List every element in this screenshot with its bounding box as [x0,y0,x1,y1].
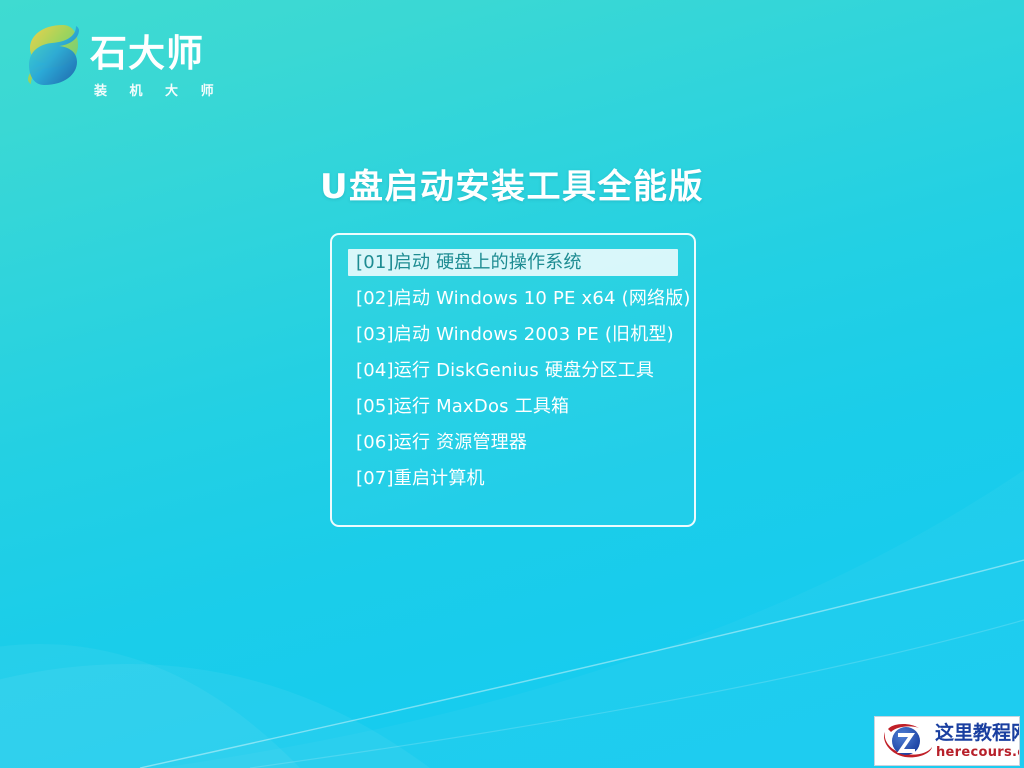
menu-item-02[interactable]: [02]启动 Windows 10 PE x64 (网络版) [348,285,678,312]
menu-item-06[interactable]: [06]运行 资源管理器 [348,429,678,456]
menu-item-05[interactable]: [05]运行 MaxDos 工具箱 [348,393,678,420]
stone-master-s-logo-icon [22,21,84,89]
watermark-site-name: 这里教程网 [935,722,1020,744]
menu-item-01[interactable]: [01]启动 硬盘上的操作系统 [348,249,678,276]
boot-menu-panel: [01]启动 硬盘上的操作系统 [02]启动 Windows 10 PE x64… [330,233,696,527]
page-title: U盘启动安装工具全能版 [0,159,1024,208]
watermark-site-url: herecours.com [936,745,1020,760]
menu-item-03[interactable]: [03]启动 Windows 2003 PE (旧机型) [348,321,678,348]
boot-menu-screen: 石大师 装 机 大 师 U盘启动安装工具全能版 [01]启动 硬盘上的操作系统 … [0,0,1024,768]
z-circle-logo-icon [879,720,935,764]
brand-name: 石大师 [90,34,204,74]
watermark: 这里教程网 herecours.com [874,716,1020,766]
brand-logo: 石大师 装 机 大 师 [22,16,222,94]
menu-item-07[interactable]: [07]重启计算机 [348,465,678,492]
menu-item-04[interactable]: [04]运行 DiskGenius 硬盘分区工具 [348,357,678,384]
brand-subtitle: 装 机 大 师 [94,84,223,100]
